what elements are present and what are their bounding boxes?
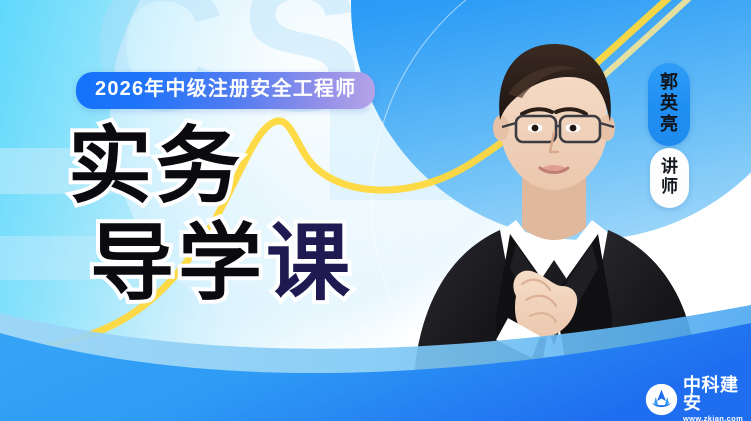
- decorative-circle-outline: [371, 0, 751, 421]
- instructor-role-char-2: 师: [661, 177, 678, 197]
- instructor-name-badge: 郭 英 亮: [648, 63, 690, 146]
- brand-mark-icon: [645, 383, 678, 416]
- brand-text: 中科建安 www.zkjan.com: [683, 376, 751, 421]
- banner-label: 2026年中级注册安全工程师: [95, 78, 356, 100]
- background-blue-circle: [351, 0, 751, 240]
- headline-line-2-main: 导学: [90, 216, 266, 310]
- instructor-name-char-2: 英: [660, 93, 678, 114]
- instructor-name-char-3: 亮: [660, 114, 678, 135]
- headline-line-1: 实务: [68, 126, 354, 207]
- headline-line-2: 导学课: [90, 223, 354, 304]
- brand-url: www.zkjan.com: [683, 415, 751, 421]
- brand-logo: 中科建安 www.zkjan.com: [645, 376, 751, 421]
- instructor-role-char-1: 讲: [661, 157, 678, 177]
- page-title: 实务 导学课: [68, 126, 354, 303]
- brand-name: 中科建安: [683, 376, 751, 412]
- instructor-role-badge: 讲 师: [650, 148, 689, 208]
- headline-line-2-accent: 课: [266, 216, 354, 310]
- course-category-banner: 2026年中级注册安全工程师: [76, 72, 375, 109]
- course-poster: CSEC: [0, 0, 751, 421]
- decorative-rectangle: [330, 108, 536, 200]
- instructor-name-char-1: 郭: [660, 72, 678, 93]
